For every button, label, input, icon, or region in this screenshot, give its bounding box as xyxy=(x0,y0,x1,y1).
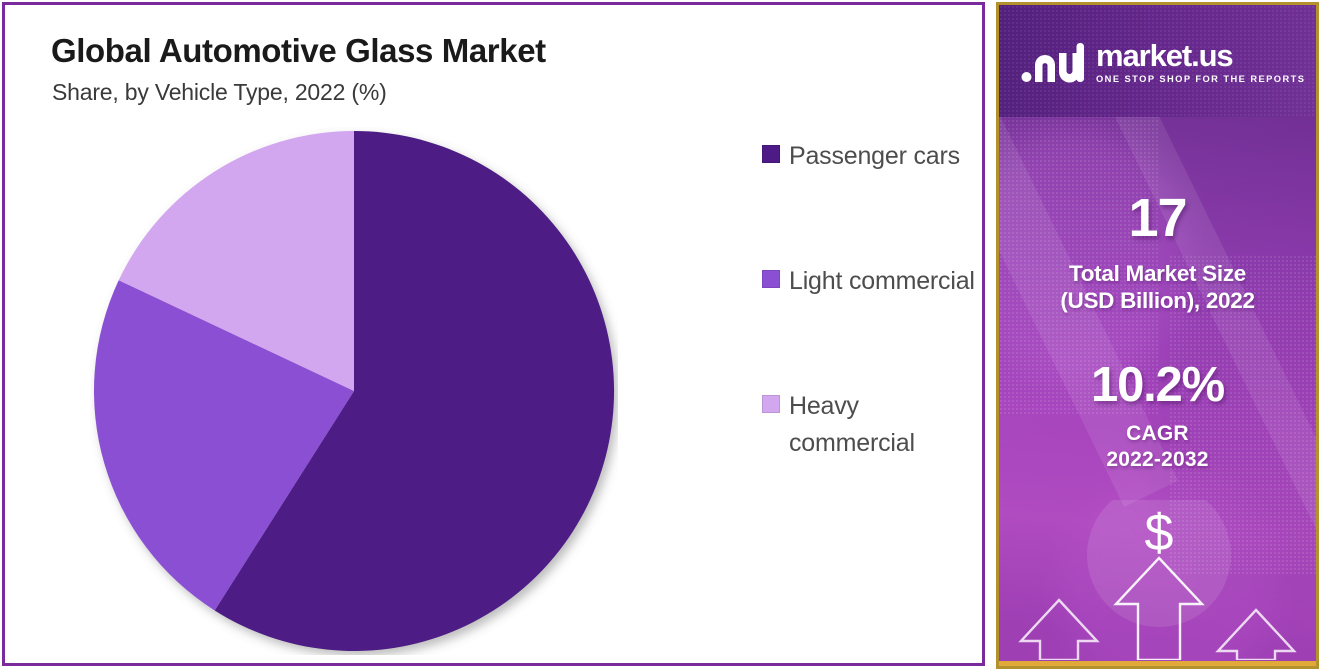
pie-chart-svg xyxy=(90,127,618,655)
pie-data-label-passenger-cars: 59% xyxy=(556,574,608,603)
pie-chart: 59% xyxy=(90,127,618,655)
logo-tagline: ONE STOP SHOP FOR THE REPORTS xyxy=(1096,74,1305,84)
growth-arrows-svg: $ xyxy=(999,500,1316,660)
stat-cagr-value: 10.2% xyxy=(999,357,1316,413)
growth-arrows-graphic: $ xyxy=(999,500,1316,660)
legend-item-light-commercial[interactable]: Light commercial xyxy=(762,263,977,300)
dollar-sign-icon: $ xyxy=(1145,504,1174,562)
infographic-root: Global Automotive Glass Market Share, by… xyxy=(0,0,1321,671)
stat-market-size-caption: Total Market Size (USD Billion), 2022 xyxy=(999,260,1316,315)
stat-market-size-caption-line1: Total Market Size xyxy=(999,260,1316,287)
growth-arrow-left xyxy=(1021,600,1097,660)
chart-panel: Global Automotive Glass Market Share, by… xyxy=(2,2,985,666)
stat-market-size-caption-line2: (USD Billion), 2022 xyxy=(999,287,1316,314)
legend-label-light-commercial: Light commercial xyxy=(789,263,975,300)
brand-bottom-rule xyxy=(999,661,1316,666)
growth-arrow-right xyxy=(1218,610,1294,660)
stat-cagr-caption-line1: CAGR xyxy=(999,421,1316,447)
legend-item-heavy-commercial[interactable]: Heavy commercial xyxy=(762,388,977,462)
stat-market-size-value: 17 xyxy=(999,187,1316,249)
market-us-logo-text: market.us ONE STOP SHOP FOR THE REPORTS xyxy=(1096,41,1305,84)
chart-subtitle: Share, by Vehicle Type, 2022 (%) xyxy=(52,79,387,106)
logo-wordmark: market.us xyxy=(1096,41,1305,71)
stat-market-size: 17 Total Market Size (USD Billion), 2022 xyxy=(999,187,1316,315)
legend-label-heavy-commercial: Heavy commercial xyxy=(789,388,977,462)
stat-cagr-caption-line2: 2022-2032 xyxy=(999,447,1316,473)
page-title: Global Automotive Glass Market xyxy=(51,32,546,70)
legend-label-passenger-cars: Passenger cars xyxy=(789,138,960,175)
brand-header: market.us ONE STOP SHOP FOR THE REPORTS xyxy=(999,5,1316,117)
stat-cagr-caption: CAGR 2022-2032 xyxy=(999,421,1316,472)
market-us-logo-mark xyxy=(1021,41,1085,83)
stat-cagr: 10.2% CAGR 2022-2032 xyxy=(999,357,1316,472)
brand-panel: market.us ONE STOP SHOP FOR THE REPORTS … xyxy=(996,2,1319,669)
legend-swatch-heavy-commercial xyxy=(762,395,780,413)
chart-legend: Passenger cars Light commercial Heavy co… xyxy=(762,138,977,550)
legend-swatch-light-commercial xyxy=(762,270,780,288)
legend-item-passenger-cars[interactable]: Passenger cars xyxy=(762,138,977,175)
legend-swatch-passenger-cars xyxy=(762,145,780,163)
market-us-logo[interactable]: market.us ONE STOP SHOP FOR THE REPORTS xyxy=(1021,41,1305,84)
